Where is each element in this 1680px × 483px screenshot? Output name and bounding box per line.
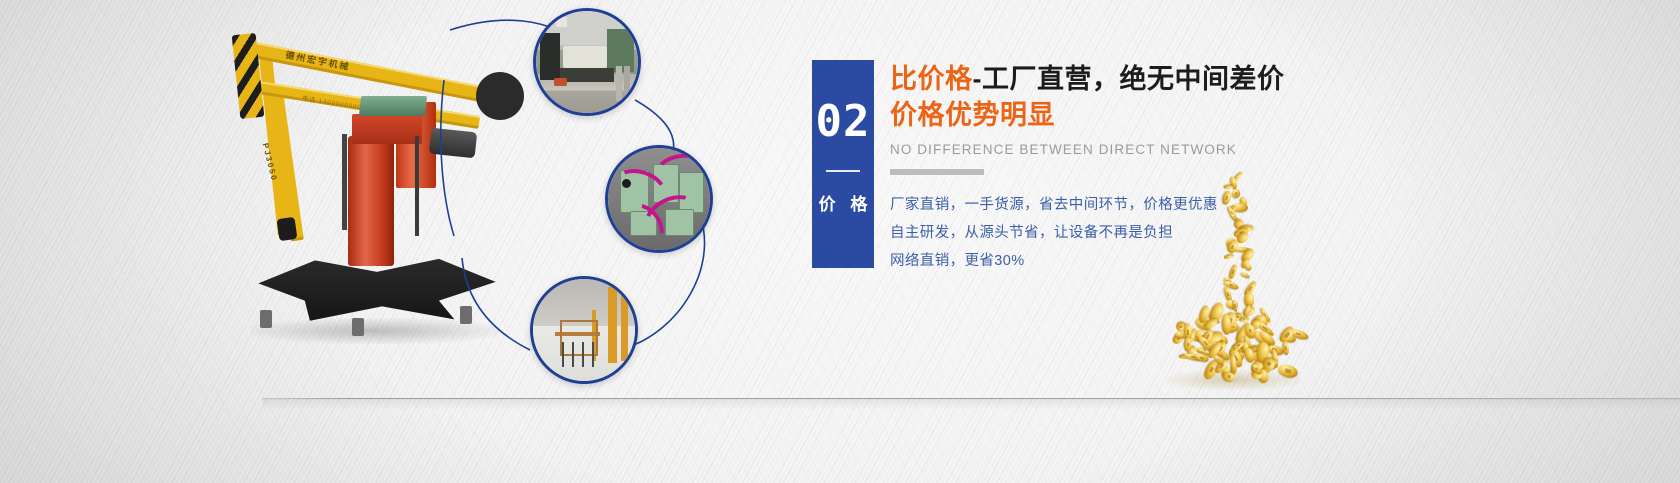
photo-shape (556, 17, 566, 27)
machine-hydraulic-cylinder (348, 136, 394, 266)
photo-shape (582, 342, 584, 366)
photo-shape (616, 66, 622, 101)
photo-content (608, 148, 710, 250)
gold-coin (1243, 262, 1253, 272)
photo-shape (540, 33, 560, 80)
machine-arm-tip (277, 217, 298, 241)
gold-coin (1224, 254, 1234, 260)
headline-line-2: 价格优势明显 (890, 98, 1530, 132)
photo-shape (608, 287, 616, 362)
headline-highlight: 比价格 (890, 64, 973, 94)
gold-coin (1239, 271, 1250, 279)
promo-banner: 德州宏宇机械 电话 13000000000 PJ3050 (0, 0, 1680, 483)
machine-foot (352, 318, 364, 336)
headline-english-subtitle: NO DIFFERENCE BETWEEN DIRECT NETWORK (890, 142, 1530, 157)
gold-coin (1232, 300, 1238, 313)
step-label: 价 格 (812, 190, 874, 215)
workshop-lathe-photo (533, 8, 641, 116)
step-number: 02 (812, 100, 874, 144)
photo-content (533, 279, 635, 381)
photo-content (536, 11, 638, 113)
ground-shadow-line (262, 398, 1680, 414)
machine-rod (342, 134, 347, 230)
machine-foot (260, 310, 272, 328)
photo-shape (563, 46, 608, 68)
photo-shape (554, 78, 566, 86)
factory-floor-photo (530, 276, 638, 384)
machine-head-block (352, 114, 422, 144)
photo-shape (572, 342, 574, 366)
headline-line-1: 比价格-工厂直营，绝无中间差价 (890, 62, 1530, 96)
hydraulic-valve-photo (605, 145, 713, 253)
machine-green-pad (359, 96, 427, 116)
gold-coins-illustration (1150, 172, 1310, 397)
photo-shape (562, 342, 564, 366)
machine-control-rod (415, 136, 419, 236)
panel-divider (826, 170, 860, 172)
headline-rest: -工厂直营，绝无中间差价 (973, 64, 1285, 94)
photo-cluster (430, 0, 750, 400)
photo-shape (560, 68, 613, 82)
photo-shape (624, 66, 630, 101)
photo-shape (592, 342, 594, 366)
step-number-panel: 02 价 格 (812, 60, 874, 268)
photo-shape (621, 293, 628, 360)
gold-coin (1228, 263, 1239, 279)
divider-bar (890, 169, 984, 175)
